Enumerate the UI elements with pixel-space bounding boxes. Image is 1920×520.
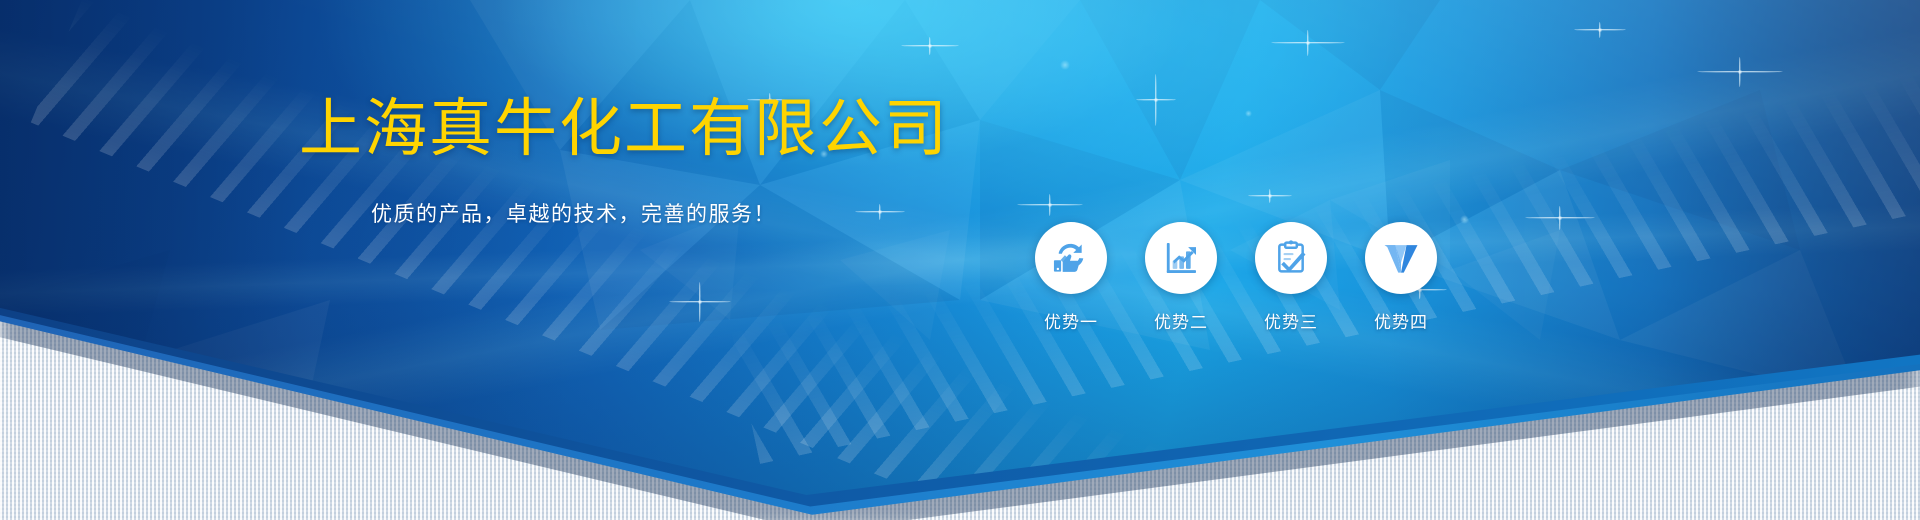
advantage-label-4: 优势四 xyxy=(1374,308,1428,333)
advantage-item-1[interactable]: 优势一 xyxy=(1035,222,1107,333)
advantage-item-3[interactable]: 优势三 xyxy=(1255,222,1327,333)
advantages-list: 优势一 优势二 xyxy=(1035,222,1437,333)
refresh-thumbsup-icon xyxy=(1050,237,1092,279)
advantage-icon-circle-4[interactable] xyxy=(1365,222,1437,294)
bar-chart-growth-icon xyxy=(1161,238,1201,278)
advantage-icon-circle-1[interactable] xyxy=(1035,222,1107,294)
advantage-icon-circle-2[interactable] xyxy=(1145,222,1217,294)
letter-v-icon xyxy=(1379,236,1423,280)
company-banner: 上海真牛化工有限公司 优质的产品，卓越的技术，完善的服务！ 优势一 xyxy=(0,0,1920,520)
advantage-label-2: 优势二 xyxy=(1154,308,1208,333)
clipboard-check-icon xyxy=(1271,238,1311,278)
company-slogan: 优质的产品，卓越的技术，完善的服务！ xyxy=(371,198,776,228)
advantage-label-3: 优势三 xyxy=(1264,308,1318,333)
advantage-label-1: 优势一 xyxy=(1044,308,1098,333)
advantage-item-2[interactable]: 优势二 xyxy=(1145,222,1217,333)
page-title: 上海真牛化工有限公司 xyxy=(299,96,949,162)
advantage-icon-circle-3[interactable] xyxy=(1255,222,1327,294)
advantage-item-4[interactable]: 优势四 xyxy=(1365,222,1437,333)
